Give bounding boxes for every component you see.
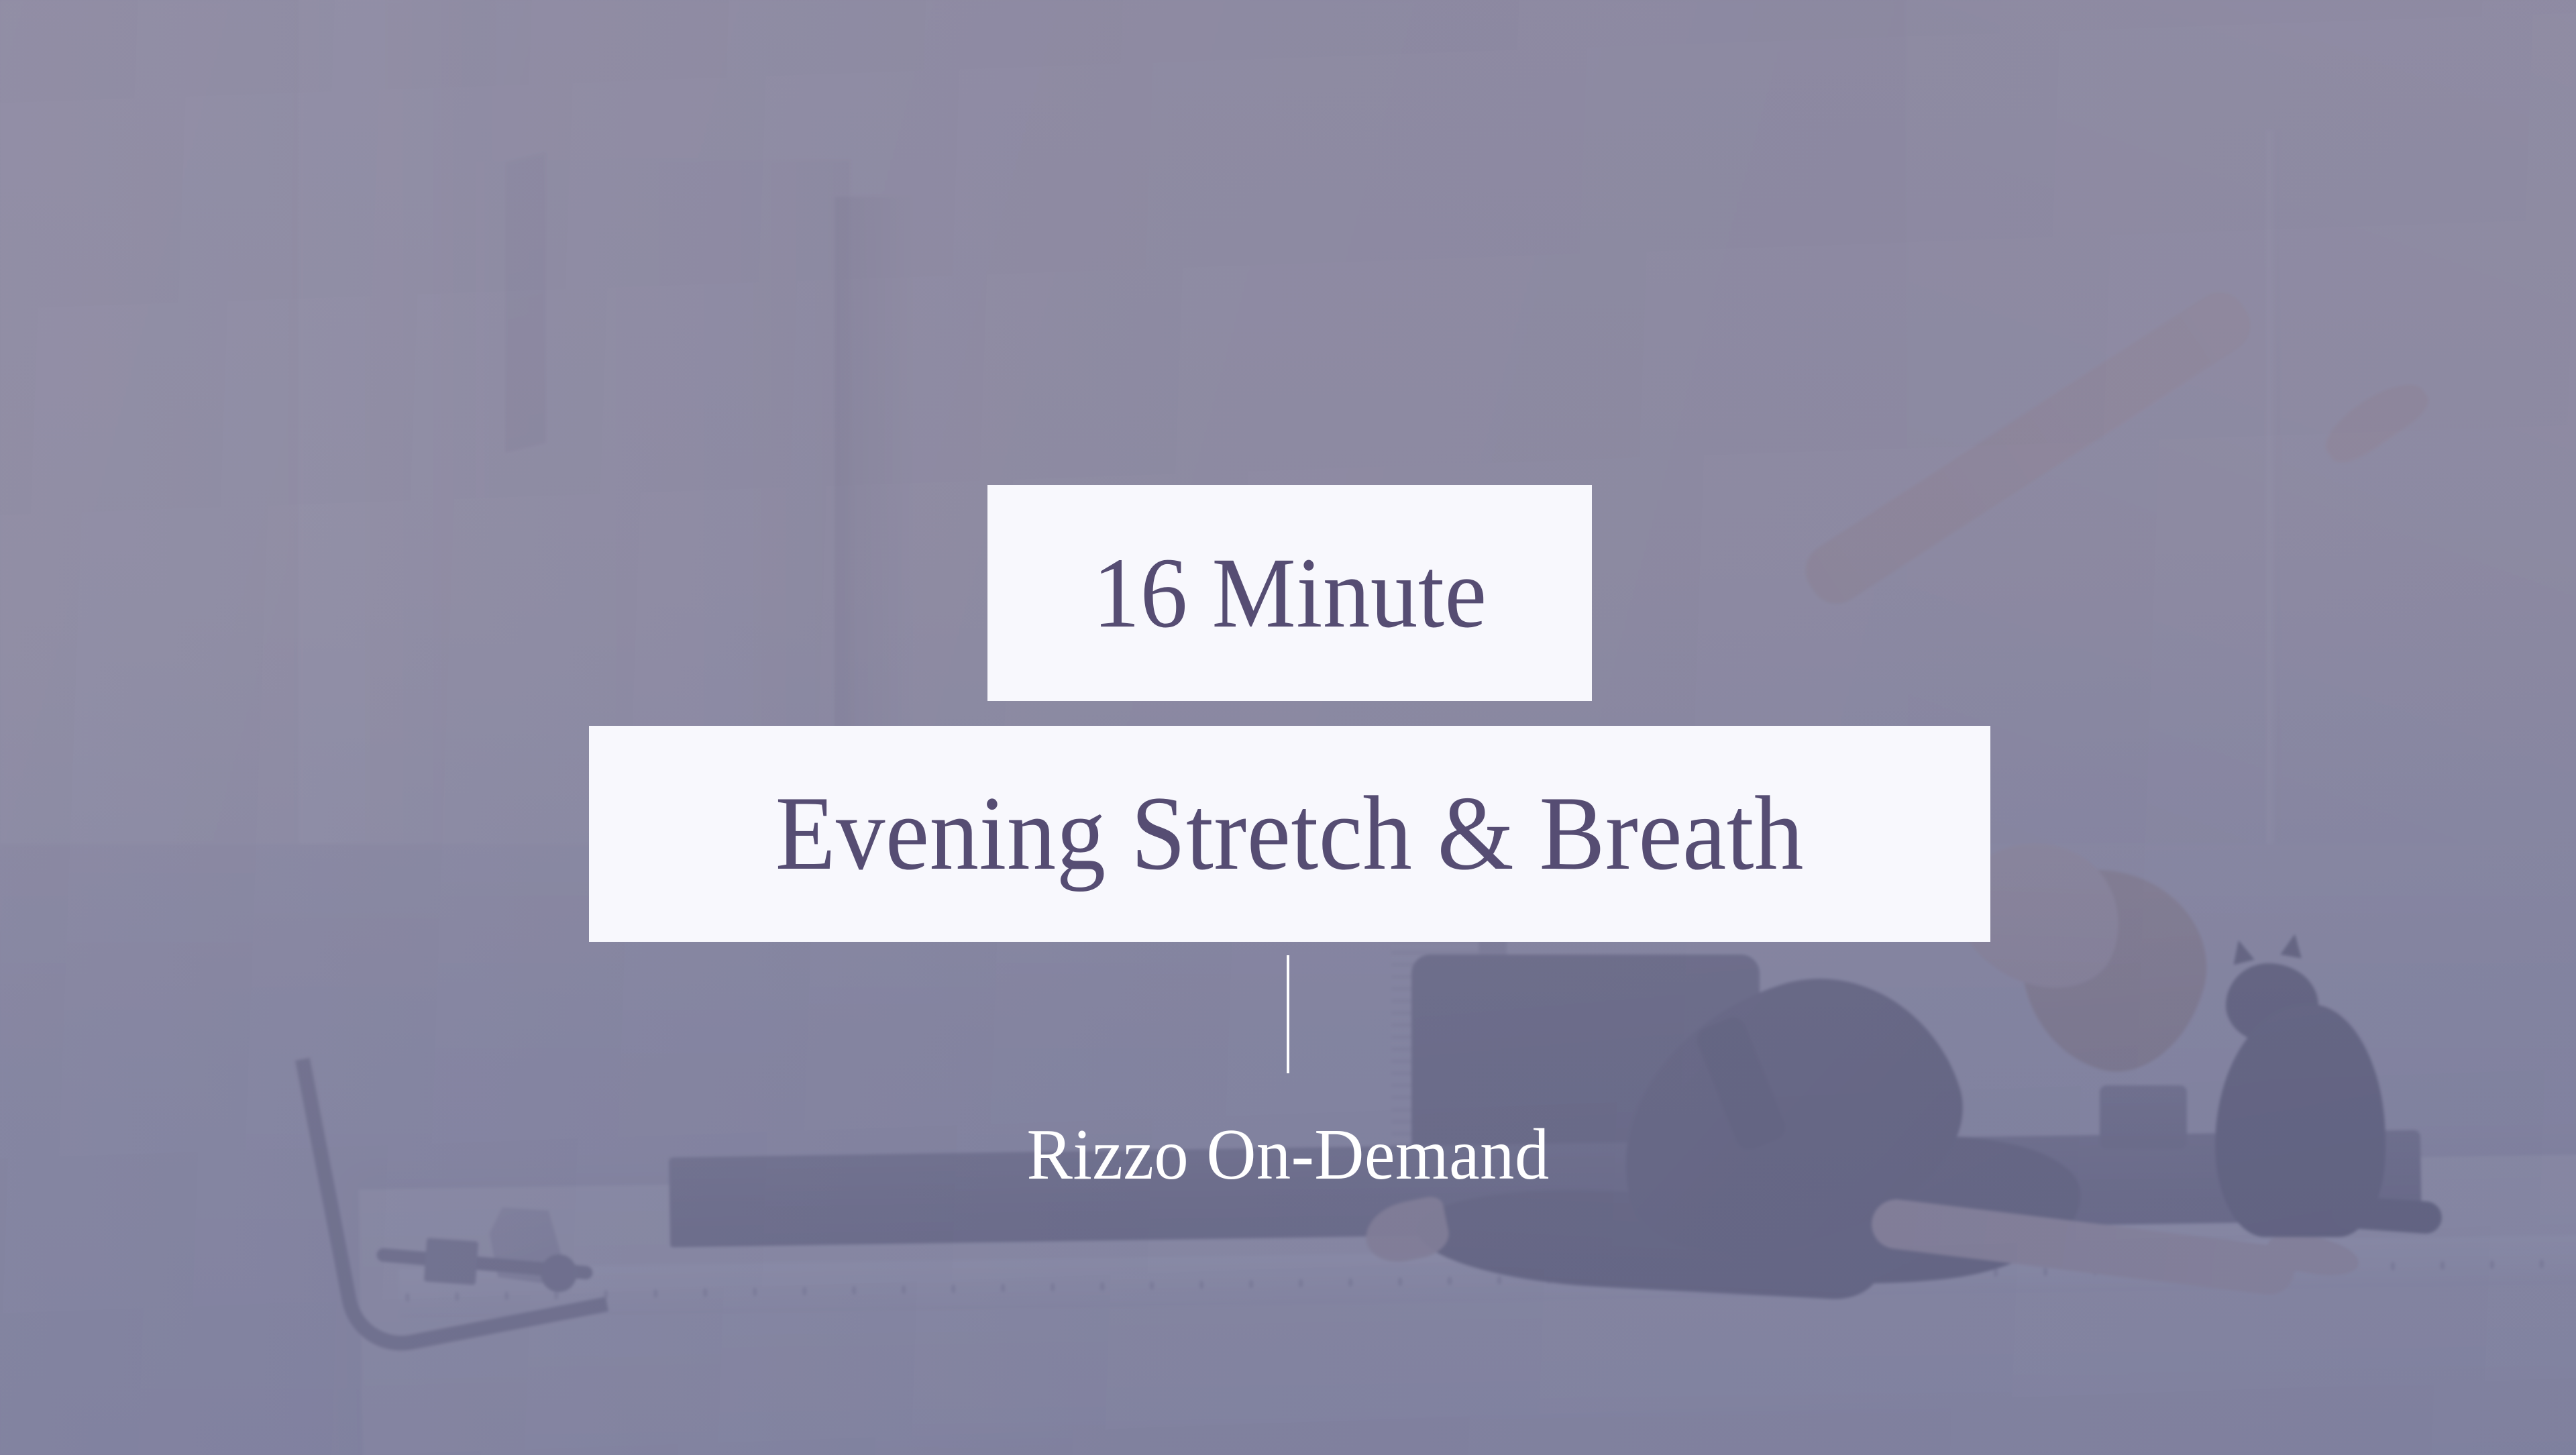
class-title-banner: Evening Stretch & Breath [589,726,1990,942]
class-title-card: 16 Minute Evening Stretch & Breath Rizzo… [0,0,2576,1455]
vertical-divider-rule [1287,955,1289,1073]
class-title-label: Evening Stretch & Breath [775,781,1804,887]
duration-label: 16 Minute [1093,543,1487,643]
brand-name: Rizzo On-Demand [0,1119,2576,1191]
duration-banner: 16 Minute [987,485,1592,701]
brand-label: Rizzo On-Demand [1026,1119,1549,1191]
